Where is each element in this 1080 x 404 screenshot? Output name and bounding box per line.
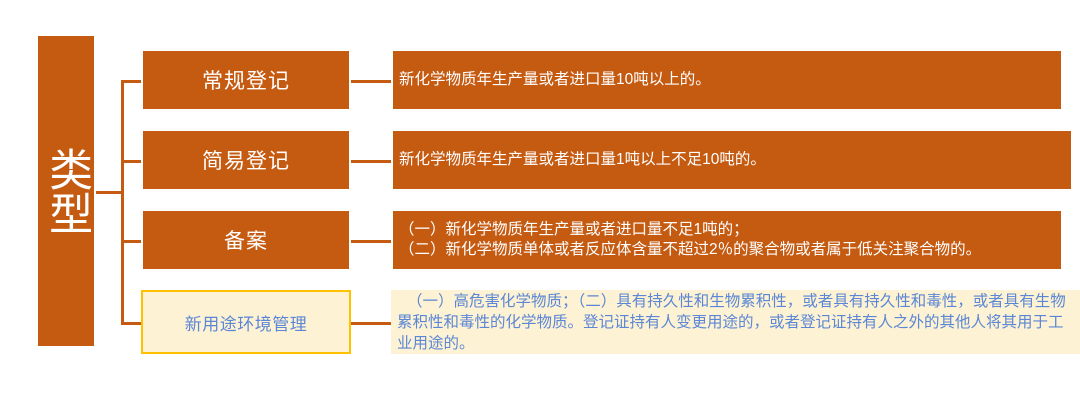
description-line: （二）新化学物质单体或者反应体含量不超过2％的聚合物或者属于低关注聚合物的。 [399, 240, 1057, 260]
category-label: 常规登记 [202, 65, 290, 95]
description-box-new-use-environmental-management[interactable]: （一）高危害化学物质；（二）具有持久性和生物累积性，或者具有持久性和毒性，或者具… [391, 290, 1080, 354]
category-label: 简易登记 [202, 145, 290, 175]
description-box-filing[interactable]: （一）新化学物质年生产量或者进口量不足1吨的； （二）新化学物质单体或者反应体含… [391, 209, 1063, 271]
connector-root-stub [96, 191, 124, 194]
category-label: 新用途环境管理 [185, 310, 308, 335]
description-line: （一）高危害化学物质；（二）具有持久性和生物累积性，或者具有持久性和毒性，或者具… [397, 291, 1076, 354]
connector-branch-2 [121, 160, 143, 163]
category-box-filing[interactable]: 备案 [141, 209, 351, 271]
connector-desc-4 [351, 322, 391, 325]
description-line: （一）新化学物质年生产量或者进口量不足1吨的； [399, 220, 1057, 240]
connector-branch-1 [121, 80, 143, 83]
category-box-regular-registration[interactable]: 常规登记 [141, 49, 351, 111]
description-box-regular-registration[interactable]: 新化学物质年生产量或者进口量10吨以上的。 [391, 49, 1063, 111]
description-line: 新化学物质年生产量或者进口量1吨以上不足10吨的。 [399, 150, 1067, 170]
root-node-label: 类型 [43, 147, 89, 235]
connector-branch-3 [121, 240, 143, 243]
category-label: 备案 [224, 225, 268, 255]
connector-spine [121, 80, 124, 325]
description-line: 新化学物质年生产量或者进口量10吨以上的。 [399, 70, 1057, 90]
category-box-simplified-registration[interactable]: 简易登记 [141, 129, 351, 191]
connector-desc-1 [351, 80, 391, 83]
category-box-new-use-environmental-management[interactable]: 新用途环境管理 [141, 290, 351, 354]
diagram-canvas: 类型 常规登记 简易登记 备案 新用途环境管理 新化学物质年生产量或者进口量10… [0, 0, 1080, 404]
description-box-simplified-registration[interactable]: 新化学物质年生产量或者进口量1吨以上不足10吨的。 [391, 129, 1073, 191]
connector-branch-4 [121, 322, 143, 325]
connector-desc-2 [351, 160, 391, 163]
connector-desc-3 [351, 240, 391, 243]
root-node-type[interactable]: 类型 [36, 34, 96, 348]
